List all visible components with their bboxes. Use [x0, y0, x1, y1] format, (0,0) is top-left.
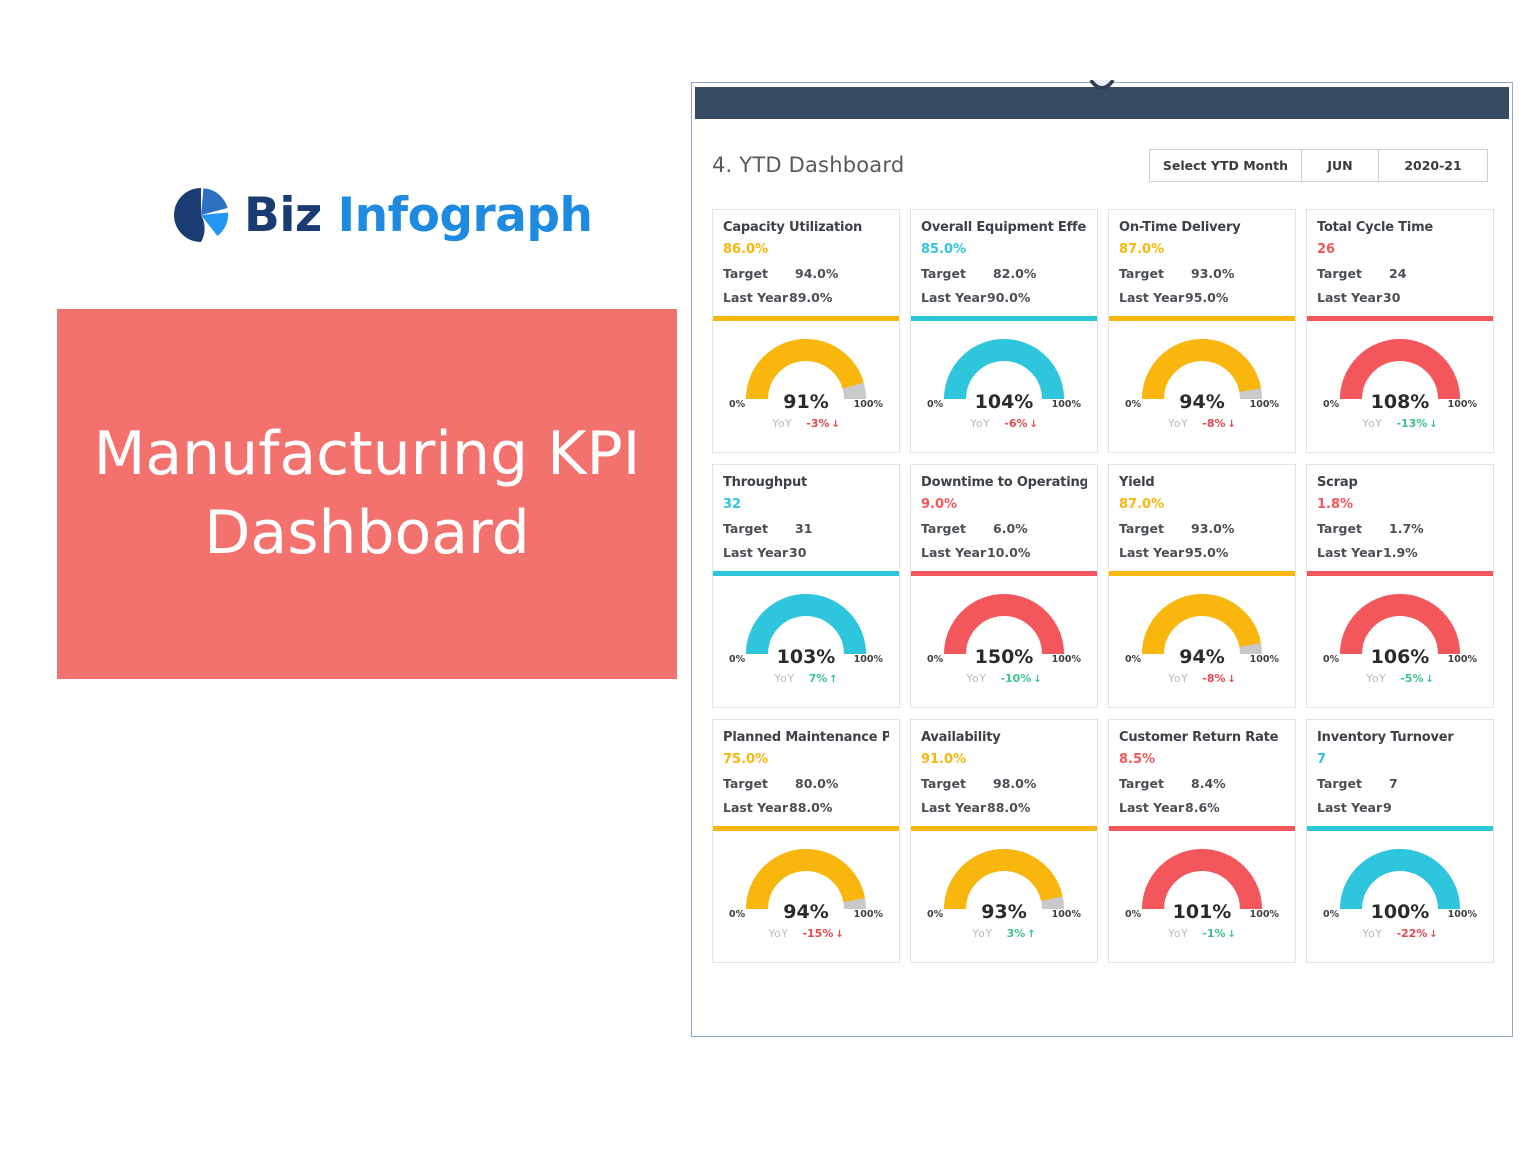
- kpi-target-value: 82.0%: [993, 266, 1036, 281]
- kpi-card: Downtime to Operating Time9.0%Target6.0%…: [910, 464, 1098, 708]
- kpi-title: Throughput: [723, 475, 889, 490]
- gauge-max-label: 100%: [1250, 654, 1279, 665]
- dashboard-header: 4. YTD Dashboard Select YTD Month JUN 20…: [712, 137, 1494, 193]
- kpi-target-label: Target: [1119, 521, 1191, 536]
- kpi-lastyear-label: Last Year: [1119, 290, 1185, 305]
- kpi-card-head: Availability91.0%Target98.0%Last Year88.…: [911, 720, 1097, 824]
- gauge-scale: 0%106%100%: [1321, 648, 1479, 668]
- kpi-target-label: Target: [1317, 266, 1389, 281]
- kpi-yoy-row: YoY-22%↓: [1362, 927, 1438, 940]
- kpi-title: Yield: [1119, 475, 1285, 490]
- gauge-min-label: 0%: [927, 399, 943, 410]
- kpi-target-row: Target82.0%: [921, 266, 1087, 281]
- gauge-max-label: 100%: [854, 909, 883, 920]
- kpi-actual-value: 26: [1317, 242, 1483, 257]
- kpi-actual-value: 87.0%: [1119, 497, 1285, 512]
- kpi-target-row: Target31: [723, 521, 889, 536]
- kpi-lastyear-row: Last Year1.9%: [1317, 545, 1483, 560]
- chevron-down-icon[interactable]: [1089, 80, 1115, 93]
- kpi-card-head: Customer Return Rate8.5%Target8.4%Last Y…: [1109, 720, 1295, 824]
- kpi-lastyear-value: 90.0%: [987, 290, 1030, 305]
- kpi-lastyear-value: 9: [1383, 800, 1392, 815]
- kpi-actual-value: 32: [723, 497, 889, 512]
- yoy-label: YoY: [774, 672, 794, 685]
- yoy-label: YoY: [1168, 672, 1188, 685]
- gauge-scale: 0%108%100%: [1321, 393, 1479, 413]
- kpi-card: Availability91.0%Target98.0%Last Year88.…: [910, 719, 1098, 963]
- yoy-label: YoY: [772, 417, 792, 430]
- ytd-selected-month[interactable]: JUN: [1301, 150, 1378, 181]
- gauge-max-label: 100%: [854, 654, 883, 665]
- kpi-card-head: Downtime to Operating Time9.0%Target6.0%…: [911, 465, 1097, 569]
- kpi-title: Inventory Turnover: [1317, 730, 1483, 745]
- kpi-target-label: Target: [723, 521, 795, 536]
- kpi-card-head: Planned Maintenance Percentage75.0%Targe…: [713, 720, 899, 824]
- gauge-max-label: 100%: [1250, 399, 1279, 410]
- gauge-percent-value: 104%: [975, 391, 1034, 413]
- gauge-min-label: 0%: [1323, 399, 1339, 410]
- yoy-trend-arrow: ↓: [1033, 674, 1041, 685]
- kpi-lastyear-row: Last Year10.0%: [921, 545, 1087, 560]
- kpi-card: Total Cycle Time26Target24Last Year300%1…: [1306, 209, 1494, 453]
- yoy-value: 3%↑: [1007, 927, 1036, 940]
- gauge-scale: 0%91%100%: [727, 393, 885, 413]
- gauge-percent-value: 94%: [783, 901, 828, 923]
- yoy-value: -3%↓: [806, 417, 840, 430]
- yoy-label: YoY: [1168, 417, 1188, 430]
- gauge-min-label: 0%: [729, 399, 745, 410]
- kpi-card-head: Throughput32Target31Last Year30: [713, 465, 899, 569]
- kpi-lastyear-value: 88.0%: [987, 800, 1030, 815]
- kpi-lastyear-label: Last Year: [1317, 545, 1383, 560]
- kpi-target-label: Target: [1119, 266, 1191, 281]
- kpi-yoy-row: YoY-13%↓: [1362, 417, 1438, 430]
- gauge-percent-value: 106%: [1371, 646, 1430, 668]
- gauge-max-label: 100%: [1052, 399, 1081, 410]
- gauge-min-label: 0%: [1125, 654, 1141, 665]
- kpi-gauge-area: 0%94%100%YoY-8%↓: [1109, 576, 1295, 707]
- brand-name-part1: Biz: [244, 188, 322, 243]
- kpi-actual-value: 91.0%: [921, 752, 1087, 767]
- kpi-yoy-row: YoY-10%↓: [966, 672, 1042, 685]
- yoy-trend-arrow: ↓: [1228, 929, 1236, 940]
- gauge-scale: 0%94%100%: [727, 903, 885, 923]
- kpi-target-value: 31: [795, 521, 812, 536]
- gauge-percent-value: 100%: [1371, 901, 1430, 923]
- kpi-target-value: 6.0%: [993, 521, 1028, 536]
- kpi-lastyear-label: Last Year: [921, 545, 987, 560]
- yoy-value: -15%↓: [802, 927, 843, 940]
- kpi-lastyear-value: 95.0%: [1185, 545, 1228, 560]
- kpi-lastyear-value: 95.0%: [1185, 290, 1228, 305]
- kpi-target-label: Target: [1317, 521, 1389, 536]
- brand-name-part2: Infograph: [338, 188, 593, 243]
- gauge-max-label: 100%: [1052, 909, 1081, 920]
- kpi-target-row: Target93.0%: [1119, 521, 1285, 536]
- kpi-target-value: 93.0%: [1191, 266, 1234, 281]
- yoy-label: YoY: [768, 927, 788, 940]
- kpi-gauge-area: 0%93%100%YoY3%↑: [911, 831, 1097, 962]
- kpi-card-head: Total Cycle Time26Target24Last Year30: [1307, 210, 1493, 314]
- kpi-gauge-area: 0%94%100%YoY-15%↓: [713, 831, 899, 962]
- kpi-yoy-row: YoY7%↑: [774, 672, 837, 685]
- gauge-min-label: 0%: [1323, 909, 1339, 920]
- dashboard-title: 4. YTD Dashboard: [712, 153, 904, 177]
- kpi-lastyear-label: Last Year: [1119, 545, 1185, 560]
- kpi-card-head: Scrap1.8%Target1.7%Last Year1.9%: [1307, 465, 1493, 569]
- pie-chart-icon: [172, 186, 230, 244]
- kpi-lastyear-row: Last Year30: [723, 545, 889, 560]
- kpi-card: On-Time Delivery87.0%Target93.0%Last Yea…: [1108, 209, 1296, 453]
- kpi-lastyear-label: Last Year: [723, 290, 789, 305]
- kpi-yoy-row: YoY3%↑: [972, 927, 1035, 940]
- kpi-actual-value: 8.5%: [1119, 752, 1285, 767]
- kpi-target-row: Target80.0%: [723, 776, 889, 791]
- kpi-lastyear-row: Last Year90.0%: [921, 290, 1087, 305]
- kpi-card: Planned Maintenance Percentage75.0%Targe…: [712, 719, 900, 963]
- ytd-month-selector[interactable]: Select YTD Month JUN 2020-21: [1149, 149, 1488, 182]
- kpi-yoy-row: YoY-5%↓: [1366, 672, 1434, 685]
- yoy-trend-arrow: ↑: [829, 674, 837, 685]
- yoy-label: YoY: [1362, 417, 1382, 430]
- kpi-target-value: 8.4%: [1191, 776, 1226, 791]
- kpi-target-label: Target: [1317, 776, 1389, 791]
- gauge-scale: 0%94%100%: [1123, 648, 1281, 668]
- kpi-lastyear-row: Last Year88.0%: [723, 800, 889, 815]
- yoy-value: -5%↓: [1400, 672, 1434, 685]
- dashboard-window: 4. YTD Dashboard Select YTD Month JUN 20…: [691, 82, 1513, 1037]
- gauge-max-label: 100%: [1448, 399, 1477, 410]
- yoy-value: 7%↑: [809, 672, 838, 685]
- kpi-card: Capacity Utilization86.0%Target94.0%Last…: [712, 209, 900, 453]
- kpi-lastyear-label: Last Year: [1119, 800, 1185, 815]
- yoy-value: -13%↓: [1396, 417, 1437, 430]
- left-cover-panel: Biz Infograph Manufacturing KPI Dashboar…: [0, 0, 690, 1152]
- kpi-lastyear-row: Last Year95.0%: [1119, 545, 1285, 560]
- kpi-card: Customer Return Rate8.5%Target8.4%Last Y…: [1108, 719, 1296, 963]
- yoy-label: YoY: [1362, 927, 1382, 940]
- kpi-target-value: 98.0%: [993, 776, 1036, 791]
- page-title: Manufacturing KPI Dashboard: [57, 415, 677, 573]
- kpi-title: Planned Maintenance Percentage: [723, 730, 889, 745]
- kpi-title: On-Time Delivery: [1119, 220, 1285, 235]
- gauge-percent-value: 94%: [1179, 391, 1224, 413]
- kpi-lastyear-label: Last Year: [1317, 290, 1383, 305]
- kpi-lastyear-row: Last Year8.6%: [1119, 800, 1285, 815]
- kpi-yoy-row: YoY-8%↓: [1168, 672, 1236, 685]
- kpi-title: Scrap: [1317, 475, 1483, 490]
- kpi-yoy-row: YoY-6%↓: [970, 417, 1038, 430]
- yoy-label: YoY: [1168, 927, 1188, 940]
- kpi-card-head: Yield87.0%Target93.0%Last Year95.0%: [1109, 465, 1295, 569]
- kpi-lastyear-label: Last Year: [1317, 800, 1383, 815]
- kpi-title: Total Cycle Time: [1317, 220, 1483, 235]
- gauge-max-label: 100%: [1448, 909, 1477, 920]
- yoy-value: -6%↓: [1004, 417, 1038, 430]
- kpi-gauge-area: 0%106%100%YoY-5%↓: [1307, 576, 1493, 707]
- yoy-label: YoY: [966, 672, 986, 685]
- kpi-lastyear-label: Last Year: [723, 800, 789, 815]
- kpi-card: Inventory Turnover7Target7Last Year90%10…: [1306, 719, 1494, 963]
- kpi-actual-value: 9.0%: [921, 497, 1087, 512]
- gauge-max-label: 100%: [1448, 654, 1477, 665]
- gauge-min-label: 0%: [1125, 399, 1141, 410]
- gauge-scale: 0%150%100%: [925, 648, 1083, 668]
- kpi-card-head: On-Time Delivery87.0%Target93.0%Last Yea…: [1109, 210, 1295, 314]
- kpi-title: Availability: [921, 730, 1087, 745]
- yoy-trend-arrow: ↓: [1429, 929, 1437, 940]
- pie-chart-icon-svg: [172, 186, 230, 244]
- kpi-title: Downtime to Operating Time: [921, 475, 1087, 490]
- brand-logo: Biz Infograph: [172, 186, 593, 244]
- gauge-percent-value: 108%: [1371, 391, 1430, 413]
- kpi-lastyear-label: Last Year: [723, 545, 789, 560]
- kpi-gauge-area: 0%108%100%YoY-13%↓: [1307, 321, 1493, 452]
- ytd-selected-year[interactable]: 2020-21: [1378, 150, 1487, 181]
- kpi-lastyear-value: 89.0%: [789, 290, 832, 305]
- gauge-max-label: 100%: [1250, 909, 1279, 920]
- kpi-target-label: Target: [921, 521, 993, 536]
- gauge-percent-value: 150%: [975, 646, 1034, 668]
- kpi-target-row: Target98.0%: [921, 776, 1087, 791]
- brand-wordmark: Biz Infograph: [244, 188, 593, 243]
- gauge-scale: 0%100%100%: [1321, 903, 1479, 923]
- kpi-target-value: 1.7%: [1389, 521, 1424, 536]
- yoy-trend-arrow: ↓: [1228, 419, 1236, 430]
- kpi-actual-value: 85.0%: [921, 242, 1087, 257]
- gauge-max-label: 100%: [1052, 654, 1081, 665]
- yoy-trend-arrow: ↓: [1030, 419, 1038, 430]
- kpi-card-grid: Capacity Utilization86.0%Target94.0%Last…: [712, 209, 1494, 963]
- yoy-value: -22%↓: [1396, 927, 1437, 940]
- kpi-card-head: Inventory Turnover7Target7Last Year9: [1307, 720, 1493, 824]
- kpi-target-label: Target: [1119, 776, 1191, 791]
- kpi-target-row: Target8.4%: [1119, 776, 1285, 791]
- kpi-target-row: Target94.0%: [723, 266, 889, 281]
- kpi-gauge-area: 0%104%100%YoY-6%↓: [911, 321, 1097, 452]
- kpi-actual-value: 7: [1317, 752, 1483, 767]
- kpi-lastyear-row: Last Year89.0%: [723, 290, 889, 305]
- kpi-lastyear-label: Last Year: [921, 800, 987, 815]
- yoy-trend-arrow: ↓: [832, 419, 840, 430]
- kpi-card: Overall Equipment Effectiveness85.0%Targ…: [910, 209, 1098, 453]
- kpi-target-label: Target: [921, 776, 993, 791]
- kpi-lastyear-value: 30: [789, 545, 806, 560]
- gauge-min-label: 0%: [729, 909, 745, 920]
- gauge-min-label: 0%: [1323, 654, 1339, 665]
- kpi-lastyear-row: Last Year30: [1317, 290, 1483, 305]
- kpi-target-label: Target: [723, 776, 795, 791]
- gauge-scale: 0%94%100%: [1123, 393, 1281, 413]
- kpi-yoy-row: YoY-8%↓: [1168, 417, 1236, 430]
- yoy-trend-arrow: ↓: [835, 929, 843, 940]
- kpi-actual-value: 75.0%: [723, 752, 889, 767]
- kpi-lastyear-row: Last Year9: [1317, 800, 1483, 815]
- kpi-actual-value: 1.8%: [1317, 497, 1483, 512]
- kpi-target-label: Target: [921, 266, 993, 281]
- gauge-min-label: 0%: [927, 909, 943, 920]
- gauge-percent-value: 94%: [1179, 646, 1224, 668]
- gauge-min-label: 0%: [1125, 909, 1141, 920]
- kpi-yoy-row: YoY-1%↓: [1168, 927, 1236, 940]
- kpi-target-row: Target24: [1317, 266, 1483, 281]
- gauge-scale: 0%104%100%: [925, 393, 1083, 413]
- gauge-min-label: 0%: [729, 654, 745, 665]
- yoy-label: YoY: [972, 927, 992, 940]
- kpi-target-row: Target7: [1317, 776, 1483, 791]
- gauge-min-label: 0%: [927, 654, 943, 665]
- kpi-yoy-row: YoY-3%↓: [772, 417, 840, 430]
- gauge-percent-value: 93%: [981, 901, 1026, 923]
- kpi-gauge-area: 0%103%100%YoY7%↑: [713, 576, 899, 707]
- kpi-card: Scrap1.8%Target1.7%Last Year1.9%0%106%10…: [1306, 464, 1494, 708]
- kpi-target-row: Target93.0%: [1119, 266, 1285, 281]
- kpi-title: Overall Equipment Effectiveness: [921, 220, 1087, 235]
- yoy-value: -8%↓: [1202, 417, 1236, 430]
- yoy-label: YoY: [1366, 672, 1386, 685]
- kpi-lastyear-value: 30: [1383, 290, 1400, 305]
- kpi-lastyear-value: 88.0%: [789, 800, 832, 815]
- yoy-trend-arrow: ↓: [1429, 419, 1437, 430]
- kpi-target-row: Target6.0%: [921, 521, 1087, 536]
- yoy-value: -8%↓: [1202, 672, 1236, 685]
- kpi-lastyear-value: 8.6%: [1185, 800, 1220, 815]
- yoy-trend-arrow: ↑: [1027, 929, 1035, 940]
- gauge-percent-value: 103%: [777, 646, 836, 668]
- kpi-target-row: Target1.7%: [1317, 521, 1483, 536]
- kpi-card: Yield87.0%Target93.0%Last Year95.0%0%94%…: [1108, 464, 1296, 708]
- yoy-label: YoY: [970, 417, 990, 430]
- window-title-bar: [695, 87, 1509, 119]
- kpi-gauge-area: 0%91%100%YoY-3%↓: [713, 321, 899, 452]
- kpi-target-value: 80.0%: [795, 776, 838, 791]
- kpi-target-value: 7: [1389, 776, 1398, 791]
- kpi-target-label: Target: [723, 266, 795, 281]
- gauge-scale: 0%93%100%: [925, 903, 1083, 923]
- gauge-scale: 0%101%100%: [1123, 903, 1281, 923]
- yoy-trend-arrow: ↓: [1426, 674, 1434, 685]
- kpi-title: Capacity Utilization: [723, 220, 889, 235]
- kpi-card: Throughput32Target31Last Year300%103%100…: [712, 464, 900, 708]
- kpi-lastyear-row: Last Year88.0%: [921, 800, 1087, 815]
- kpi-target-value: 93.0%: [1191, 521, 1234, 536]
- gauge-scale: 0%103%100%: [727, 648, 885, 668]
- ytd-selector-label: Select YTD Month: [1150, 150, 1301, 181]
- kpi-gauge-area: 0%101%100%YoY-1%↓: [1109, 831, 1295, 962]
- kpi-gauge-area: 0%150%100%YoY-10%↓: [911, 576, 1097, 707]
- kpi-lastyear-row: Last Year95.0%: [1119, 290, 1285, 305]
- kpi-actual-value: 86.0%: [723, 242, 889, 257]
- gauge-max-label: 100%: [854, 399, 883, 410]
- kpi-card-head: Capacity Utilization86.0%Target94.0%Last…: [713, 210, 899, 314]
- kpi-gauge-area: 0%94%100%YoY-8%↓: [1109, 321, 1295, 452]
- yoy-value: -1%↓: [1202, 927, 1236, 940]
- yoy-trend-arrow: ↓: [1228, 674, 1236, 685]
- kpi-actual-value: 87.0%: [1119, 242, 1285, 257]
- kpi-title: Customer Return Rate: [1119, 730, 1285, 745]
- kpi-lastyear-value: 1.9%: [1383, 545, 1418, 560]
- kpi-card-head: Overall Equipment Effectiveness85.0%Targ…: [911, 210, 1097, 314]
- gauge-percent-value: 91%: [783, 391, 828, 413]
- kpi-gauge-area: 0%100%100%YoY-22%↓: [1307, 831, 1493, 962]
- yoy-value: -10%↓: [1000, 672, 1041, 685]
- title-banner: Manufacturing KPI Dashboard: [57, 309, 677, 679]
- gauge-percent-value: 101%: [1173, 901, 1232, 923]
- kpi-target-value: 94.0%: [795, 266, 838, 281]
- kpi-lastyear-label: Last Year: [921, 290, 987, 305]
- kpi-lastyear-value: 10.0%: [987, 545, 1030, 560]
- kpi-target-value: 24: [1389, 266, 1406, 281]
- kpi-yoy-row: YoY-15%↓: [768, 927, 844, 940]
